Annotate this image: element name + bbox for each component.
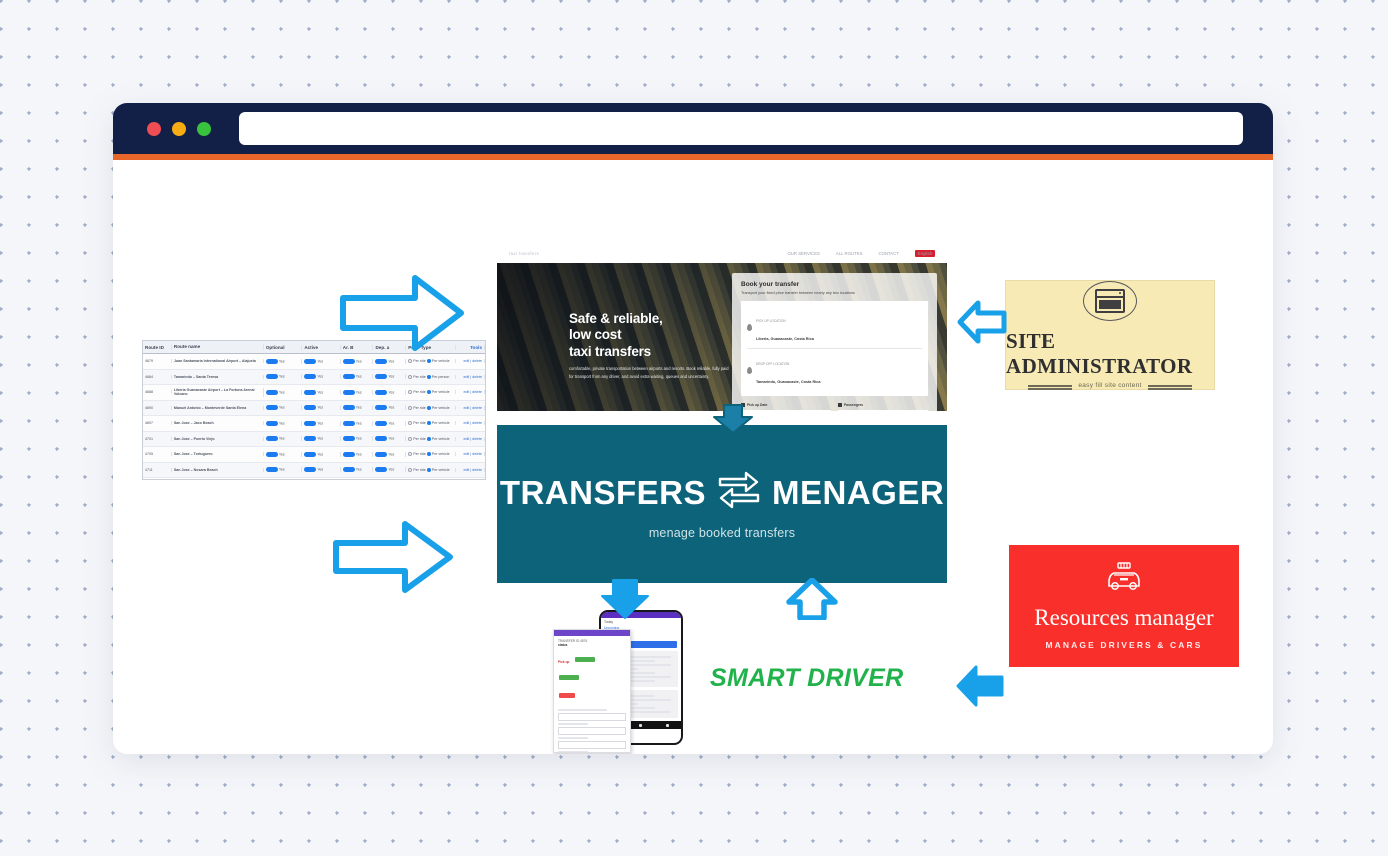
rule-left xyxy=(1028,385,1072,387)
cell-departure[interactable]: Yes xyxy=(373,405,406,410)
date-field-group[interactable]: Pick up Date Add pick up Time xyxy=(741,403,831,411)
resources-manager-card: Resources manager MANAGE DRIVERS & CARS xyxy=(1009,545,1239,667)
cell-price-type[interactable]: Per ride Per vehicle xyxy=(406,390,456,394)
passengers-field-group[interactable]: Passengers 1 adult xyxy=(838,403,928,411)
passengers-input[interactable]: 1 adult xyxy=(838,410,928,411)
table-row[interactable]: 4701San Jose – Puerto ViejoYesYesYesYesP… xyxy=(143,432,485,448)
cell-route-id: 4688 xyxy=(143,390,172,394)
nav-item-contact[interactable]: CONTACT xyxy=(878,251,898,256)
cell-route-name: Juan Santamaria International Airport – … xyxy=(172,359,264,363)
column-header-route-name: Route name xyxy=(172,344,264,350)
minimize-icon[interactable] xyxy=(172,122,186,136)
cell-tools[interactable]: edit | delete xyxy=(456,437,485,441)
cell-tools[interactable]: edit | delete xyxy=(456,375,485,379)
pickup-value[interactable]: Liberia, Guanacaste, Costa Rica xyxy=(756,337,814,341)
date-input[interactable]: Add pick up Time xyxy=(741,410,831,411)
page-viewport: Route ID Route name Optional Active Ar. … xyxy=(113,160,1273,754)
dropoff-row[interactable]: DROP OFF LOCATION Tamarindo, Guanacaste,… xyxy=(747,348,922,391)
cell-optional[interactable]: Yes xyxy=(264,405,302,410)
table-row[interactable]: 4697San Jose – Jaco BeachYesYesYesYesPer… xyxy=(143,416,485,432)
transfers-manager-title-left: TRANSFERS xyxy=(500,474,706,512)
status-badge-cancel xyxy=(559,693,575,698)
cell-route-id: 4701 xyxy=(143,437,172,441)
cell-price-type[interactable]: Per ride Per person xyxy=(406,375,456,379)
cell-active[interactable]: Yes xyxy=(302,405,340,410)
arrow-table-to-site xyxy=(337,272,467,354)
arrow-driver-to-manager xyxy=(785,578,839,620)
cell-route-id: 4684 xyxy=(143,375,172,379)
smart-driver-phones: Today Upcoming Past transfers xyxy=(553,610,693,754)
transfers-manager-banner: TRANSFERS MENAGER menage booked transfer… xyxy=(497,425,947,583)
cell-active[interactable]: Yes xyxy=(302,390,340,395)
column-header-active: Active xyxy=(302,345,340,350)
phone-tab-today[interactable]: Today xyxy=(604,620,678,624)
cell-arrival[interactable]: Yes xyxy=(341,421,374,426)
cell-route-id: 4705 xyxy=(143,452,172,456)
table-row[interactable]: 4684Tamarindo – Santa TeresaYesYesYesYes… xyxy=(143,370,485,386)
transfers-manager-subtitle: menage booked transfers xyxy=(649,526,795,540)
cell-optional[interactable]: Yes xyxy=(264,452,302,457)
arrow-site-admin-to-site xyxy=(956,299,1008,345)
cell-arrival[interactable]: Yes xyxy=(341,467,374,472)
booking-form-title: Book your transfer xyxy=(741,281,928,288)
transfers-manager-title-right: MENAGER xyxy=(772,474,944,512)
cell-route-name: Liberia Guanacaste Airport – La Fortuna … xyxy=(172,388,264,397)
transfers-manager-title: TRANSFERS MENAGER xyxy=(500,469,944,517)
arrow-site-to-manager xyxy=(712,403,754,435)
phone-input-field[interactable] xyxy=(558,741,626,749)
nav-item-language[interactable]: English xyxy=(915,250,935,257)
person-icon xyxy=(838,403,842,407)
status-badge-ontheway xyxy=(559,675,579,680)
cell-arrival[interactable]: Yes xyxy=(341,390,374,395)
site-logo[interactable]: taxi transfers xyxy=(509,251,629,256)
column-header-optional: Optional xyxy=(264,345,302,350)
transfer-swap-icon xyxy=(716,469,762,517)
nav-item-services[interactable]: OUR SERVICES xyxy=(787,251,819,256)
cell-tools[interactable]: edit | delete xyxy=(456,421,485,425)
site-administrator-subtitle: easy fill site content xyxy=(1078,382,1141,389)
table-row[interactable]: 4690Manuel Antonio – Monteverde Santa El… xyxy=(143,401,485,417)
cell-departure[interactable]: Yes xyxy=(373,390,406,395)
cell-departure[interactable]: Yes xyxy=(373,436,406,441)
pickup-label: PICK UP LOCATION xyxy=(756,319,786,323)
phone-front-screen[interactable]: TRANSFER ID 4876 status Pick up xyxy=(553,629,631,753)
rule-right xyxy=(1148,385,1192,387)
table-row[interactable]: 4679Juan Santamaria International Airpor… xyxy=(143,354,485,370)
hero-section: Safe & reliable, low cost taxi transfers… xyxy=(497,263,947,411)
booking-locations[interactable]: PICK UP LOCATION Liberia, Guanacaste, Co… xyxy=(741,301,928,396)
map-pin-icon xyxy=(747,367,752,374)
cell-route-id: 4690 xyxy=(143,406,172,410)
hero-headline-1: Safe & reliable, xyxy=(569,311,663,326)
resources-manager-title: Resources manager xyxy=(1034,605,1213,631)
cell-route-name: San Jose – Tortuguero xyxy=(172,452,264,456)
cell-route-id: 4697 xyxy=(143,421,172,425)
hero-text: Safe & reliable, low cost taxi transfers… xyxy=(569,311,734,381)
cell-tools[interactable]: edit | delete xyxy=(456,468,485,472)
cell-departure[interactable]: Yes xyxy=(373,421,406,426)
cell-departure[interactable]: Yes xyxy=(373,467,406,472)
dropoff-label: DROP OFF LOCATION xyxy=(756,362,789,366)
cell-tools[interactable]: edit | delete xyxy=(456,452,485,456)
arrow-table-to-manager xyxy=(330,518,456,596)
cell-tools[interactable]: edit | delete xyxy=(456,406,485,410)
arrow-manager-to-driver xyxy=(598,578,652,620)
hero-headline-2: low cost xyxy=(569,327,621,342)
dropoff-value[interactable]: Tamarindo, Guanacaste, Costa Rica xyxy=(756,380,821,384)
site-administrator-subtitle-rule: easy fill site content xyxy=(1028,382,1191,389)
nav-item-routes[interactable]: ALL ROUTES xyxy=(836,251,863,256)
table-row[interactable]: 4711San Jose – Nosara BeachYesYesYesYesP… xyxy=(143,463,485,479)
cell-departure[interactable]: Yes xyxy=(373,452,406,457)
cell-route-id: 4679 xyxy=(143,359,172,363)
cell-active[interactable]: Yes xyxy=(302,421,340,426)
website-screenshot[interactable]: taxi transfers OUR SERVICES ALL ROUTES C… xyxy=(497,243,947,411)
cell-arrival[interactable]: Yes xyxy=(341,405,374,410)
cell-route-id: 4711 xyxy=(143,468,172,472)
cell-price-type[interactable]: Per ride Per vehicle xyxy=(406,468,456,472)
browser-window: Route ID Route name Optional Active Ar. … xyxy=(113,103,1273,754)
column-header-route-id: Route ID xyxy=(143,345,172,350)
cell-optional[interactable]: Yes xyxy=(264,467,302,472)
map-pin-icon xyxy=(747,324,752,331)
browser-titlebar xyxy=(113,103,1273,154)
taxi-car-icon xyxy=(1103,562,1145,597)
cell-route-name: San Jose – Nosara Beach xyxy=(172,468,264,472)
cell-active[interactable]: Yes xyxy=(302,452,340,457)
site-nav-items[interactable]: OUR SERVICES ALL ROUTES CONTACT English xyxy=(629,250,935,257)
cell-tools[interactable]: edit | delete xyxy=(456,390,485,394)
cell-active[interactable]: Yes xyxy=(302,374,340,379)
hero-headline-3: taxi transfers xyxy=(569,344,651,359)
cell-optional[interactable]: Yes xyxy=(264,436,302,441)
cell-arrival[interactable]: Yes xyxy=(341,436,374,441)
cell-departure[interactable]: Yes xyxy=(373,374,406,379)
cell-route-name: San Jose – Puerto Viejo xyxy=(172,437,264,441)
site-administrator-card: SITE ADMINISTRATOR easy fill site conten… xyxy=(1005,280,1215,390)
cell-price-type[interactable]: Per ride Per vehicle xyxy=(406,437,456,441)
passengers-label: Passengers xyxy=(844,403,863,407)
cell-arrival[interactable]: Yes xyxy=(341,359,374,364)
table-row[interactable]: 4688Liberia Guanacaste Airport – La Fort… xyxy=(143,385,485,401)
table-body: 4679Juan Santamaria International Airpor… xyxy=(143,354,485,480)
window-controls[interactable] xyxy=(147,122,211,136)
phone-status-label: status xyxy=(558,643,626,647)
cell-departure[interactable]: Yes xyxy=(373,359,406,364)
maximize-icon[interactable] xyxy=(197,122,211,136)
booking-form[interactable]: Book your transfer Transport your fixed … xyxy=(732,273,937,411)
booking-fields[interactable]: Pick up Date Add pick up Time Passengers… xyxy=(741,403,928,411)
booking-form-subtitle: Transport your fixed price transfer betw… xyxy=(741,291,928,295)
resources-manager-subtitle: MANAGE DRIVERS & CARS xyxy=(1046,640,1203,650)
cell-optional[interactable]: Yes xyxy=(264,421,302,426)
arrow-resources-to-driver xyxy=(954,663,1006,709)
close-icon[interactable] xyxy=(147,122,161,136)
cell-tools[interactable]: edit | delete xyxy=(456,359,485,363)
browser-window-icon xyxy=(1083,281,1137,321)
cell-optional[interactable]: Yes xyxy=(264,374,302,379)
cell-active[interactable]: Yes xyxy=(302,467,340,472)
smart-driver-label: SMART DRIVER xyxy=(710,664,903,693)
site-navbar[interactable]: taxi transfers OUR SERVICES ALL ROUTES C… xyxy=(497,243,947,263)
cell-optional[interactable]: Yes xyxy=(264,359,302,364)
cell-active[interactable]: Yes xyxy=(302,436,340,441)
cell-price-type[interactable]: Per ride Per vehicle xyxy=(406,421,456,425)
status-badge-assigned xyxy=(575,657,595,662)
cell-arrival[interactable]: Yes xyxy=(341,452,374,457)
phone-select-field[interactable] xyxy=(558,727,626,735)
cell-active[interactable]: Yes xyxy=(302,359,340,364)
cell-route-name: Manuel Antonio – Monteverde Santa Elena xyxy=(172,406,264,410)
table-row[interactable]: 4705San Jose – TortugueroYesYesYesYesPer… xyxy=(143,447,485,463)
table-row[interactable]: 4718San Jose – DominicalYesYesYesYesPer … xyxy=(143,478,485,480)
cell-arrival[interactable]: Yes xyxy=(341,374,374,379)
pickup-row[interactable]: PICK UP LOCATION Liberia, Guanacaste, Co… xyxy=(747,306,922,348)
site-administrator-title: SITE ADMINISTRATOR xyxy=(1006,329,1214,379)
bookings-table[interactable]: Route ID Route name Optional Active Ar. … xyxy=(142,340,486,480)
cell-price-type[interactable]: Per ride Per vehicle xyxy=(406,359,456,363)
cell-price-type[interactable]: Per ride Per vehicle xyxy=(406,406,456,410)
phone-badge-title: Pick up xyxy=(558,660,569,664)
hero-paragraph: comfortable, private transportation betw… xyxy=(569,365,734,380)
cell-optional[interactable]: Yes xyxy=(264,390,302,395)
phone-input-field[interactable] xyxy=(558,713,626,721)
cell-price-type[interactable]: Per ride Per vehicle xyxy=(406,452,456,456)
cell-route-name: Tamarindo – Santa Teresa xyxy=(172,375,264,379)
address-bar-input[interactable] xyxy=(239,112,1243,145)
cell-route-name: San Jose – Jaco Beach xyxy=(172,421,264,425)
